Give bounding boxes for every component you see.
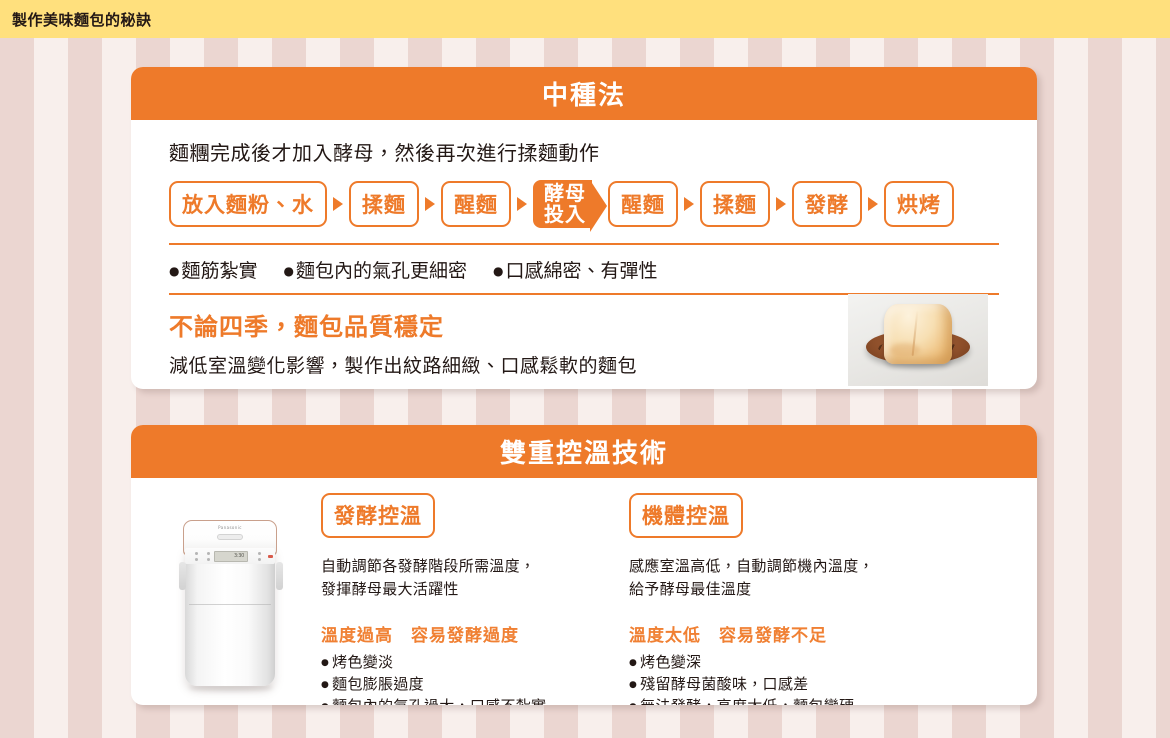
column-body-temp: 機體控溫 感應室溫高低，自動調節機內溫度， 給予酵母最佳溫度 溫度太低 容易發酵… [629, 492, 929, 705]
pill-body-temp: 機體控溫 [629, 493, 743, 538]
flow-arrow-icon [776, 197, 786, 211]
machine-button-icon [258, 558, 261, 561]
benefit-item: 口感綿密、有彈性 [493, 256, 658, 283]
flow-step-label: 烘烤 [897, 189, 941, 219]
column-fermentation-temp: 發酵控溫 自動調節各發酵階段所需溫度， 發揮酵母最大活躍性 溫度過高 容易發酵過… [321, 492, 629, 705]
machine-button-icon [195, 558, 198, 561]
flow-arrow-icon [425, 197, 435, 211]
flow-step-knead-1: 揉麵 [349, 181, 419, 227]
card-dual-temperature-header: 雙重控溫技術 [131, 425, 1037, 478]
desc-line-2: 發揮酵母最大活躍性 [321, 580, 459, 598]
warn-list-item: 麵包內的氣孔過大，口感不紮實 [321, 695, 629, 705]
card-sponge-method-header: 中種法 [131, 67, 1037, 120]
warn-list-item: 烤色變淡 [321, 651, 629, 673]
fermentation-temp-desc: 自動調節各發酵階段所需溫度， 發揮酵母最大活躍性 [321, 538, 629, 602]
body-temp-warn-title: 溫度太低 容易發酵不足 [629, 602, 929, 646]
warn-list-item: 殘留酵母菌酸味，口感差 [629, 673, 929, 695]
body-temp-desc: 感應室溫高低，自動調節機內溫度， 給予酵母最佳溫度 [629, 538, 929, 602]
card-sponge-method-title: 中種法 [542, 75, 626, 112]
fermentation-warn-list: 烤色變淡 麵包膨脹過度 麵包內的氣孔過大，口感不紮實 [321, 646, 629, 706]
sponge-method-lead-text: 麵糰完成後才加入酵母，然後再次進行揉麵動作 [131, 120, 1037, 166]
benefit-item: 麵包內的氣孔更細密 [284, 256, 468, 283]
dual-temperature-body: Panasonic 3:30 發酵控溫 自動調節各發酵階段所需溫度， [131, 478, 1037, 705]
desc-line-1: 感應室溫高低，自動調節機內溫度， [629, 557, 874, 575]
pill-fermentation-temp: 發酵控溫 [321, 493, 435, 538]
flow-arrow-icon [333, 197, 343, 211]
flow-step-rest-2: 醒麵 [608, 181, 678, 227]
flow-step-rest-1: 醒麵 [441, 181, 511, 227]
flow-step-label: 揉麵 [713, 189, 757, 219]
flow-step-label: 醒麵 [621, 189, 665, 219]
flow-step-ferment: 發酵 [792, 181, 862, 227]
flow-step-label: 醒麵 [454, 189, 498, 219]
desc-line-2: 給予酵母最佳溫度 [629, 580, 751, 598]
machine-body [185, 546, 275, 686]
desc-line-1: 自動調節各發酵階段所需溫度， [321, 557, 535, 575]
bread-loaf-shape [884, 304, 952, 364]
fermentation-warn-title: 溫度過高 容易發酵過度 [321, 602, 629, 646]
page-title: 製作美味麵包的秘訣 [0, 9, 152, 30]
flow-step-label-line1: 酵母 [544, 183, 586, 204]
machine-display-screen: 3:30 [214, 551, 248, 562]
warn-list-item: 麵包膨脹過度 [321, 673, 629, 695]
card-dual-temperature: 雙重控溫技術 Panasonic 3:30 [131, 425, 1037, 705]
flow-step-knead-2: 揉麵 [700, 181, 770, 227]
benefit-item: 麵筋紮實 [169, 256, 258, 283]
machine-brand-label: Panasonic [218, 525, 242, 530]
machine-button-icon [195, 552, 198, 555]
bread-loaf-photo [848, 294, 988, 386]
flow-arrow-icon [517, 197, 527, 211]
machine-button-icon [258, 552, 261, 555]
machine-display-value: 3:30 [234, 553, 244, 559]
warn-list-item: 無法發酵，高度太低，麵包變硬 [629, 695, 929, 705]
flow-step-add-yeast: 酵母 投入 [533, 180, 592, 228]
flow-step-bake: 烘烤 [884, 181, 954, 227]
card-sponge-method: 中種法 麵糰完成後才加入酵母，然後再次進行揉麵動作 放入麵粉、水 揉麵 醒麵 酵… [131, 67, 1037, 389]
machine-start-button-icon [268, 555, 273, 558]
flow-arrow-icon [684, 197, 694, 211]
process-flow: 放入麵粉、水 揉麵 醒麵 酵母 投入 醒麵 揉麵 發酵 烘烤 [131, 166, 1037, 228]
flow-step-label: 揉麵 [362, 189, 406, 219]
bread-machine-column: Panasonic 3:30 [131, 492, 321, 705]
bread-machine-illustration: Panasonic 3:30 [177, 500, 285, 692]
page-title-bar: 製作美味麵包的秘訣 [0, 0, 1170, 38]
card-dual-temperature-title: 雙重控溫技術 [500, 433, 668, 470]
machine-side-handle-right [276, 562, 283, 590]
warn-list-item: 烤色變深 [629, 651, 929, 673]
machine-side-handle-left [179, 562, 186, 590]
flow-arrow-icon [868, 197, 878, 211]
machine-button-icon [207, 558, 210, 561]
flow-step-add-flour-water: 放入麵粉、水 [169, 181, 327, 227]
flow-step-label: 放入麵粉、水 [182, 189, 314, 219]
machine-lid-handle [217, 534, 243, 540]
machine-button-icon [207, 552, 210, 555]
body-temp-warn-list: 烤色變深 殘留酵母菌酸味，口感差 無法發酵，高度太低，麵包變硬 [629, 646, 929, 706]
flow-step-label-line2: 投入 [544, 204, 586, 225]
flow-step-label: 發酵 [805, 189, 849, 219]
benefits-strip: 麵筋紮實 麵包內的氣孔更細密 口感綿密、有彈性 [169, 243, 999, 295]
